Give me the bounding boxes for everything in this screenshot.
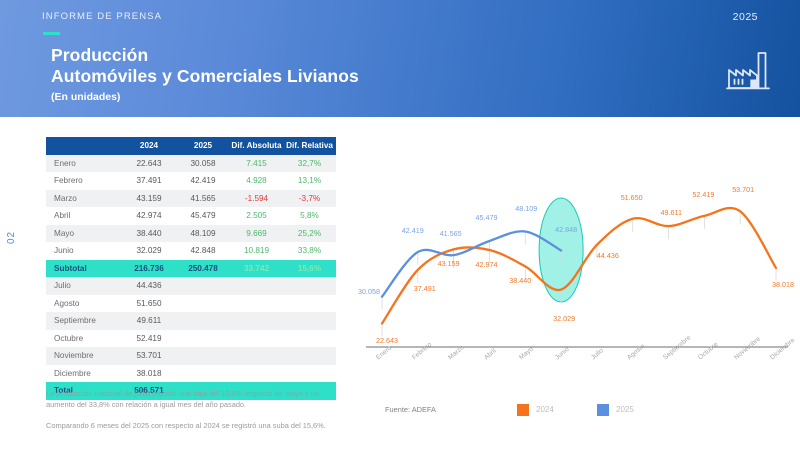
cell-dif-absoluta <box>230 277 283 295</box>
cell-2025: 42.848 <box>176 242 230 260</box>
cell-month: Abril <box>46 207 122 225</box>
cell-month: Febrero <box>46 172 122 190</box>
table-row: Marzo43.15941.565-1.594-3,7% <box>46 190 336 208</box>
data-label-2024-junio: 32.029 <box>553 314 575 323</box>
data-label-2024-noviembre: 53.701 <box>732 185 754 194</box>
cell-dif-absoluta <box>230 295 283 313</box>
cell-2025: 48.109 <box>176 225 230 243</box>
table-row: Septiembre49.611 <box>46 312 336 330</box>
data-label-2025-junio: 42.848 <box>555 225 577 234</box>
cell-month: Marzo <box>46 190 122 208</box>
factory-icon <box>725 48 773 90</box>
cell-2024: 43.159 <box>122 190 176 208</box>
table-row: Febrero37.49142.4194.92813,1% <box>46 172 336 190</box>
cell-month: Diciembre <box>46 365 122 383</box>
table-row: Junio32.02942.84810.81933,8% <box>46 242 336 260</box>
table-row: Mayo38.44048.1099.66925,2% <box>46 225 336 243</box>
x-axis-label-noviembre: Noviembre <box>733 336 762 362</box>
cell-subtotal-2025: 250.478 <box>176 260 230 278</box>
data-label-2024-agosto: 51.650 <box>621 193 643 202</box>
cell-dif-absoluta <box>230 330 283 348</box>
table-row: Diciembre38.018 <box>46 365 336 383</box>
cell-dif-absoluta <box>230 365 283 383</box>
note-paragraph-2: Comparando 6 meses del 2025 con respecto… <box>46 420 336 431</box>
title-subtitle: (En unidades) <box>51 91 359 104</box>
cell-month: Junio <box>46 242 122 260</box>
cell-2024: 32.029 <box>122 242 176 260</box>
x-axis-label-mayo: Mayo <box>518 346 535 362</box>
data-label-2025-febrero: 42.419 <box>402 226 424 235</box>
page-title: Producción Automóviles y Comerciales Liv… <box>51 45 359 103</box>
slide-header: INFORME DE PRENSA 2025 Producción Automó… <box>0 0 800 117</box>
table-body: Enero22.64330.0587.41532,7%Febrero37.491… <box>46 155 336 400</box>
cell-2024: 38.440 <box>122 225 176 243</box>
legend-label-2025: 2025 <box>616 405 634 414</box>
cell-2025 <box>176 312 230 330</box>
cell-dif-relativa: 13,1% <box>283 172 336 190</box>
cell-dif-absoluta: 4.928 <box>230 172 283 190</box>
cell-2024: 52.419 <box>122 330 176 348</box>
cell-2024: 42.974 <box>122 207 176 225</box>
col-header-2024: 2024 <box>122 137 176 155</box>
data-label-2025-abril: 45.479 <box>476 213 498 222</box>
table-row: Octubre52.419 <box>46 330 336 348</box>
cell-dif-relativa <box>283 277 336 295</box>
table-row: Agosto51.650 <box>46 295 336 313</box>
legend-label-2024: 2024 <box>536 405 554 414</box>
cell-2025: 41.565 <box>176 190 230 208</box>
table-head: 2024 2025 Dif. Absoluta Dif. Relativa <box>46 137 336 155</box>
legend-swatch-2024 <box>517 404 529 416</box>
title-line-1: Producción <box>51 45 359 66</box>
cell-dif-absoluta <box>230 312 283 330</box>
header-accent-rule <box>43 32 60 35</box>
cell-subtotal-2024: 216.736 <box>122 260 176 278</box>
col-header-2025: 2025 <box>176 137 230 155</box>
table-row: Julio44.436 <box>46 277 336 295</box>
chart-legend-row: Fuente: ADEFA 2024 2025 <box>360 397 800 427</box>
cell-month: Julio <box>46 277 122 295</box>
cell-month: Mayo <box>46 225 122 243</box>
cell-subtotal-label: Subtotal <box>46 260 122 278</box>
slide-root: INFORME DE PRENSA 2025 Producción Automó… <box>0 0 800 450</box>
cell-month: Octubre <box>46 330 122 348</box>
cell-2025 <box>176 295 230 313</box>
cell-dif-relativa <box>283 365 336 383</box>
col-header-month <box>46 137 122 155</box>
data-label-2024-septiembre: 49.611 <box>661 208 682 217</box>
cell-subtotal-abs: 33.742 <box>230 260 283 278</box>
cell-dif-absoluta: 7.415 <box>230 155 283 173</box>
cell-2025: 42.419 <box>176 172 230 190</box>
production-table: 2024 2025 Dif. Absoluta Dif. Relativa En… <box>46 137 336 400</box>
cell-dif-absoluta: 2.505 <box>230 207 283 225</box>
data-label-2024-mayo: 38.440 <box>509 276 531 285</box>
title-line-2: Automóviles y Comerciales Livianos <box>51 66 359 87</box>
table-row-subtotal: Subtotal216.736250.47833.74215,6% <box>46 260 336 278</box>
table-row: Abril42.97445.4792.5055,8% <box>46 207 336 225</box>
cell-2025 <box>176 277 230 295</box>
table-row: Noviembre53.701 <box>46 347 336 365</box>
table-header-row: 2024 2025 Dif. Absoluta Dif. Relativa <box>46 137 336 155</box>
cell-dif-relativa: 32,7% <box>283 155 336 173</box>
cell-dif-absoluta <box>230 347 283 365</box>
x-axis-label-agosto: Agosto <box>626 343 646 362</box>
cell-dif-relativa <box>283 347 336 365</box>
data-label-2025-mayo: 48.109 <box>515 204 537 213</box>
data-label-2025-enero: 30.058 <box>358 287 380 296</box>
data-label-2024-diciembre: 38.018 <box>772 280 794 289</box>
cell-2024: 49.611 <box>122 312 176 330</box>
cell-dif-relativa: 33,8% <box>283 242 336 260</box>
cell-2025: 30.058 <box>176 155 230 173</box>
cell-month: Septiembre <box>46 312 122 330</box>
cell-2024: 44.436 <box>122 277 176 295</box>
x-axis-label-febrero: Febrero <box>411 341 433 361</box>
cell-2024: 22.643 <box>122 155 176 173</box>
x-axis-label-septiembre: Septiembre <box>662 334 692 361</box>
col-header-dif-absoluta: Dif. Absoluta <box>230 137 283 155</box>
production-line-chart: 22.64337.49143.15942.97438.44032.02944.4… <box>360 185 800 450</box>
cell-dif-absoluta: 9.669 <box>230 225 283 243</box>
x-axis-label-junio: Junio <box>554 346 571 361</box>
legend-item-2024[interactable]: 2024 <box>517 401 554 419</box>
data-label-2024-octubre: 52.419 <box>692 190 714 199</box>
x-axis-label-diciembre: Diciembre <box>769 337 796 361</box>
header-year: 2025 <box>733 11 758 23</box>
cell-2025 <box>176 347 230 365</box>
page-number: 02 <box>6 231 17 244</box>
cell-dif-absoluta: -1.594 <box>230 190 283 208</box>
data-label-2025-marzo: 41.565 <box>440 229 462 238</box>
cell-2024: 38.018 <box>122 365 176 383</box>
production-table-wrapper: 2024 2025 Dif. Absoluta Dif. Relativa En… <box>46 137 336 400</box>
legend-swatch-2025 <box>597 404 609 416</box>
x-axis-label-marzo: Marzo <box>447 344 466 361</box>
cell-month: Noviembre <box>46 347 122 365</box>
cell-dif-absoluta: 10.819 <box>230 242 283 260</box>
cell-dif-relativa <box>283 295 336 313</box>
cell-dif-relativa <box>283 312 336 330</box>
cell-2024: 37.491 <box>122 172 176 190</box>
cell-dif-relativa: -3,7% <box>283 190 336 208</box>
x-axis-label-abril: Abril <box>483 348 498 362</box>
cell-subtotal-rel: 15,6% <box>283 260 336 278</box>
chart-source: Fuente: ADEFA <box>385 405 436 414</box>
cell-2024: 53.701 <box>122 347 176 365</box>
cell-month: Agosto <box>46 295 122 313</box>
x-axis-label-julio: Julio <box>590 347 605 361</box>
legend-item-2025[interactable]: 2025 <box>597 401 634 419</box>
cell-dif-relativa: 25,2% <box>283 225 336 243</box>
cell-2024: 51.650 <box>122 295 176 313</box>
x-axis-label-octubre: Octubre <box>697 341 719 361</box>
data-label-2024-abril: 42.974 <box>476 260 498 269</box>
data-label-2024-marzo: 43.159 <box>438 259 460 268</box>
x-axis-label-enero: Enero <box>375 345 393 362</box>
header-kicker: INFORME DE PRENSA <box>42 11 162 22</box>
data-label-2024-enero: 22.643 <box>376 336 398 345</box>
data-label-2024-julio: 44.436 <box>597 251 619 260</box>
note-paragraph-1: La producción nacional de junio registró… <box>46 388 336 411</box>
col-header-dif-relativa: Dif. Relativa <box>283 137 336 155</box>
cell-2025 <box>176 365 230 383</box>
cell-dif-relativa <box>283 330 336 348</box>
cell-dif-relativa: 5,8% <box>283 207 336 225</box>
cell-month: Enero <box>46 155 122 173</box>
data-label-2024-febrero: 37.491 <box>414 284 436 293</box>
notes-block: La producción nacional de junio registró… <box>46 388 336 440</box>
table-row: Enero22.64330.0587.41532,7% <box>46 155 336 173</box>
cell-2025: 45.479 <box>176 207 230 225</box>
cell-2025 <box>176 330 230 348</box>
